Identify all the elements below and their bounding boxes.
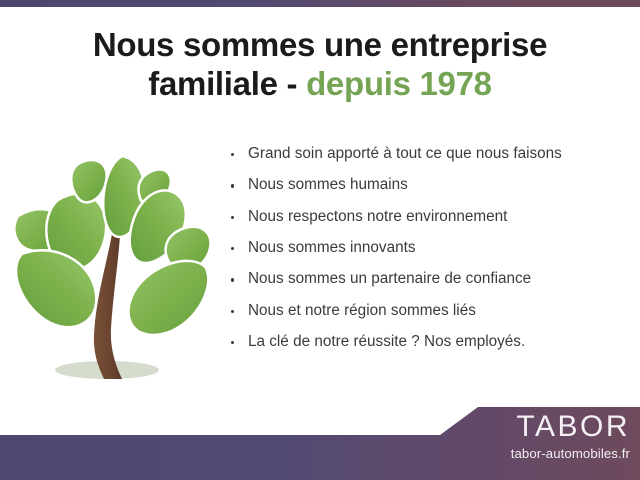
list-item-label: La clé de notre réussite ? Nos employés.	[248, 333, 525, 350]
list-item: Grand soin apporté à tout ce que nous fa…	[228, 146, 628, 163]
tree-leaf-top-small	[71, 160, 106, 202]
list-item-label: Nous sommes innovants	[248, 239, 416, 256]
tree-illustration	[10, 148, 220, 390]
list-item: Nous sommes un partenaire de confiance	[228, 271, 628, 288]
list-item: Nous et notre région sommes liés	[228, 303, 628, 320]
tree-leaf-right-lower	[129, 261, 209, 335]
top-accent-stripe	[0, 0, 640, 7]
heading-line-1: Nous sommes une entreprise	[93, 26, 547, 63]
list-item-label: Nous respectons notre environnement	[248, 208, 507, 225]
list-item: Nous sommes humains	[228, 177, 628, 194]
bullet-dot-icon	[231, 153, 234, 156]
bullet-dot-icon	[231, 310, 234, 313]
benefits-list: Grand soin apporté à tout ce que nous fa…	[228, 146, 628, 365]
list-item-label: Nous sommes humains	[248, 176, 408, 193]
list-item-label: Grand soin apporté à tout ce que nous fa…	[248, 145, 562, 162]
bullet-dot-icon	[231, 247, 234, 250]
bullet-dot-icon	[231, 341, 234, 344]
bullet-dot-icon	[231, 184, 234, 187]
brand-wordmark: TABOR	[511, 412, 630, 442]
page-title: Nous sommes une entreprise familiale - d…	[0, 26, 640, 104]
brand-logo[interactable]: TABOR tabor-automobiles.fr	[511, 412, 630, 460]
heading-line-2: familiale - depuis 1978	[0, 65, 640, 104]
heading-line-2-prefix: familiale -	[148, 65, 306, 102]
bullet-dot-icon	[231, 278, 234, 281]
brand-tagline: tabor-automobiles.fr	[511, 447, 630, 460]
bullet-dot-icon	[231, 216, 234, 219]
list-item: Nous sommes innovants	[228, 240, 628, 257]
footer-band: TABOR tabor-automobiles.fr	[0, 400, 640, 480]
list-item: Nous respectons notre environnement	[228, 209, 628, 226]
heading-accent-text: depuis 1978	[306, 65, 492, 102]
list-item-label: Nous et notre région sommes liés	[248, 302, 476, 319]
list-item: La clé de notre réussite ? Nos employés.	[228, 334, 628, 351]
list-item-label: Nous sommes un partenaire de confiance	[248, 270, 531, 287]
